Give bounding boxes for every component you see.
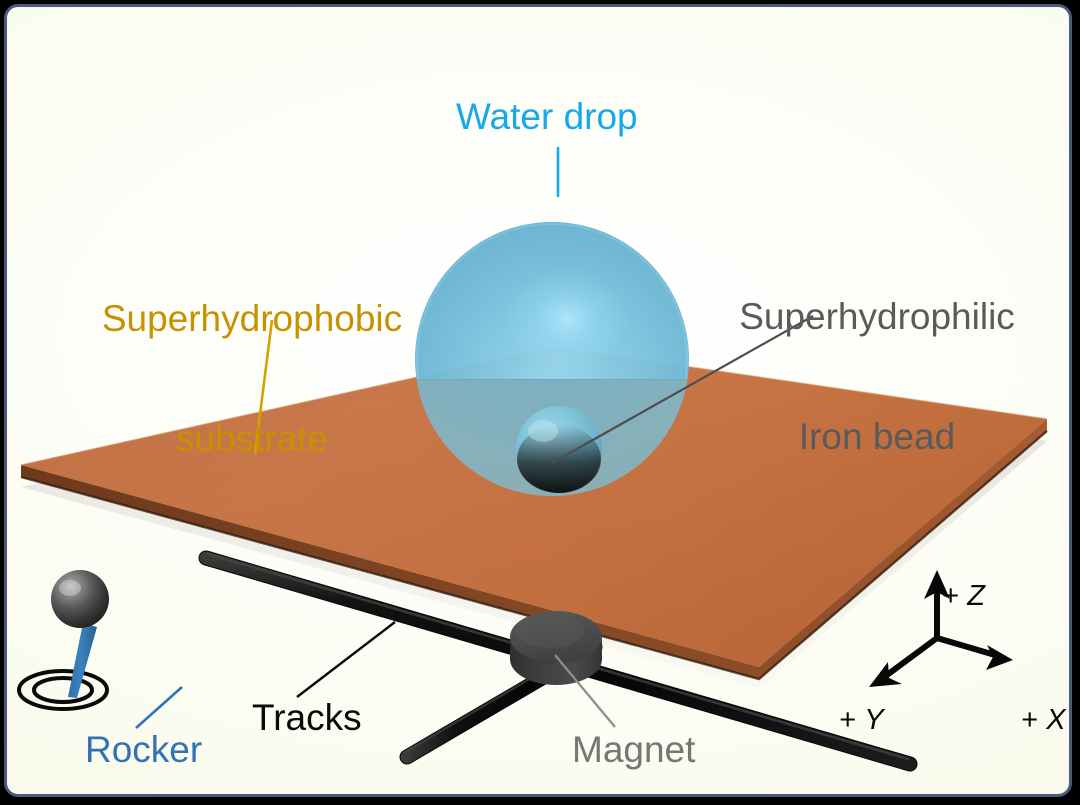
axis-label-x: + X: [989, 671, 1066, 770]
water-drop-specular: [505, 267, 629, 371]
label-rocker: Rocker: [85, 730, 202, 770]
rocker[interactable]: [19, 570, 109, 709]
label-superhydrophobic-line2: substrate: [77, 419, 427, 459]
rocker-base-ring-inner: [34, 678, 92, 702]
label-superhydrophilic-iron-bead: Superhydrophilic Iron bead: [707, 217, 1047, 537]
axis-arrowhead-x: [986, 645, 1013, 670]
label-superhydrophilic-line2: Iron bead: [707, 417, 1047, 457]
label-magnet: Magnet: [572, 730, 695, 770]
label-tracks: Tracks: [252, 698, 362, 738]
figure-frame: Water drop Superhydrophobic substrate Su…: [4, 4, 1072, 797]
axis-plus-z: +: [942, 580, 959, 612]
label-superhydrophilic-line1: Superhydrophilic: [707, 297, 1047, 337]
magnet-top-sheen: [516, 614, 584, 648]
leader-rocker: [136, 687, 182, 728]
iron-bead-highlight: [528, 420, 558, 442]
axis-letter-z: Z: [967, 580, 985, 612]
magnet: [510, 611, 602, 685]
leader-tracks: [297, 622, 395, 697]
schematic-scene: Water drop Superhydrophobic substrate Su…: [7, 7, 1069, 794]
rocker-knob-highlight: [59, 580, 81, 596]
label-superhydrophobic-line1: Superhydrophobic: [77, 299, 427, 339]
axis-letter-x: X: [1046, 704, 1065, 736]
label-water-drop: Water drop: [456, 97, 638, 137]
axis-letter-y: Y: [864, 704, 883, 736]
label-superhydrophobic-substrate: Superhydrophobic substrate: [77, 219, 427, 539]
axis-label-z: + Z: [910, 547, 985, 646]
water-drop: [415, 222, 689, 496]
axis-plus-y: +: [839, 704, 856, 736]
rocker-knob[interactable]: [51, 570, 109, 628]
iron-bead: [516, 406, 602, 493]
axis-label-y: + Y: [807, 671, 884, 770]
axis-plus-x: +: [1021, 704, 1038, 736]
